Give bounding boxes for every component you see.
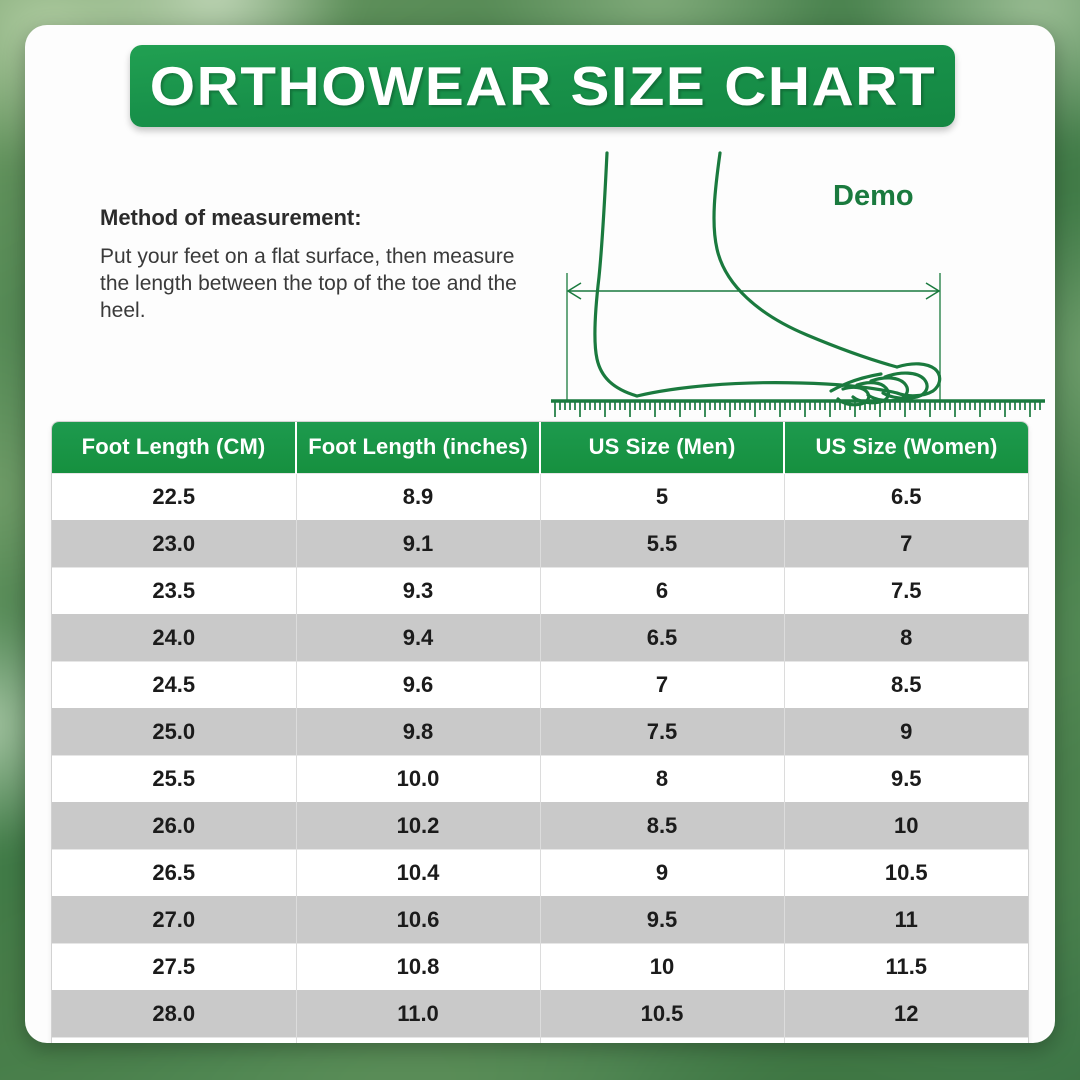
table-cell: 8.5 bbox=[784, 662, 1028, 709]
table-row: 27.510.81011.5 bbox=[52, 944, 1028, 991]
column-header-foot-length-inches: Foot Length (inches) bbox=[296, 422, 540, 474]
table-cell: 10.2 bbox=[296, 803, 540, 850]
table-cell: 10.6 bbox=[296, 897, 540, 944]
table-cell: 10.8 bbox=[296, 944, 540, 991]
table-cell: 10 bbox=[784, 803, 1028, 850]
table-cell: 10.0 bbox=[296, 756, 540, 803]
table-cell: 12.5 bbox=[784, 1038, 1028, 1044]
table-cell: 5 bbox=[540, 474, 784, 521]
table-row: 25.09.87.59 bbox=[52, 709, 1028, 756]
table-row: 25.510.089.5 bbox=[52, 756, 1028, 803]
table-cell: 24.5 bbox=[52, 662, 296, 709]
column-header-us-size-women: US Size (Women) bbox=[784, 422, 1028, 474]
table-cell: 11.5 bbox=[784, 944, 1028, 991]
title-banner: ORTHOWEAR SIZE CHART bbox=[130, 45, 955, 127]
table-cell: 25.5 bbox=[52, 756, 296, 803]
table-cell: 26.5 bbox=[52, 850, 296, 897]
table-cell: 7 bbox=[540, 662, 784, 709]
table-cell: 9.5 bbox=[784, 756, 1028, 803]
table-row: 23.09.15.57 bbox=[52, 521, 1028, 568]
table-cell: 9.6 bbox=[296, 662, 540, 709]
table-cell: 11 bbox=[784, 897, 1028, 944]
size-chart-table: Foot Length (CM) Foot Length (inches) US… bbox=[52, 422, 1028, 1043]
table-cell: 6 bbox=[540, 568, 784, 615]
table-row: 24.59.678.5 bbox=[52, 662, 1028, 709]
table-cell: 9.8 bbox=[296, 709, 540, 756]
table-row: 26.510.4910.5 bbox=[52, 850, 1028, 897]
table-cell: 5.5 bbox=[540, 521, 784, 568]
method-body: Put your feet on a flat surface, then me… bbox=[100, 244, 520, 325]
table-row: 23.59.367.5 bbox=[52, 568, 1028, 615]
table-row: 28.011.010.512 bbox=[52, 991, 1028, 1038]
table-cell: 9.3 bbox=[296, 568, 540, 615]
table-cell: 10.4 bbox=[296, 850, 540, 897]
size-chart-card: ORTHOWEAR SIZE CHART Method of measureme… bbox=[25, 25, 1055, 1043]
table-cell: 12 bbox=[784, 991, 1028, 1038]
table-cell: 24.0 bbox=[52, 615, 296, 662]
table-cell: 6.5 bbox=[784, 474, 1028, 521]
table-cell: 8.9 bbox=[296, 474, 540, 521]
table-cell: 25.0 bbox=[52, 709, 296, 756]
table-cell: 27.0 bbox=[52, 897, 296, 944]
table-row: 26.010.28.510 bbox=[52, 803, 1028, 850]
table-row: 22.58.956.5 bbox=[52, 474, 1028, 521]
table-cell: 9 bbox=[784, 709, 1028, 756]
table-cell: 7.5 bbox=[540, 709, 784, 756]
table-cell: 23.5 bbox=[52, 568, 296, 615]
table-cell: 7 bbox=[784, 521, 1028, 568]
table-cell: 7.5 bbox=[784, 568, 1028, 615]
table-cell: 23.0 bbox=[52, 521, 296, 568]
table-cell: 11.2 bbox=[296, 1038, 540, 1044]
page-title: ORTHOWEAR SIZE CHART bbox=[149, 54, 935, 118]
table-cell: 27.5 bbox=[52, 944, 296, 991]
table-cell: 9.5 bbox=[540, 897, 784, 944]
table-cell: 8 bbox=[784, 615, 1028, 662]
table-cell: 8.5 bbox=[540, 803, 784, 850]
foot-outline-icon bbox=[545, 145, 1055, 420]
column-header-foot-length-cm: Foot Length (CM) bbox=[52, 422, 296, 474]
table-cell: 28.5 bbox=[52, 1038, 296, 1044]
table-header-row: Foot Length (CM) Foot Length (inches) US… bbox=[52, 422, 1028, 474]
ruler-icon bbox=[551, 401, 1045, 417]
table-cell: 28.0 bbox=[52, 991, 296, 1038]
column-header-us-size-men: US Size (Men) bbox=[540, 422, 784, 474]
table-cell: 9.4 bbox=[296, 615, 540, 662]
table-cell: 9.1 bbox=[296, 521, 540, 568]
table-cell: 8 bbox=[540, 756, 784, 803]
table-cell: 26.0 bbox=[52, 803, 296, 850]
table-cell: 11.0 bbox=[296, 991, 540, 1038]
table-row: 24.09.46.58 bbox=[52, 615, 1028, 662]
table-cell: 6.5 bbox=[540, 615, 784, 662]
table-cell: 22.5 bbox=[52, 474, 296, 521]
table-cell: 11 bbox=[540, 1038, 784, 1044]
table-cell: 9 bbox=[540, 850, 784, 897]
table-row: 27.010.69.511 bbox=[52, 897, 1028, 944]
table-cell: 10.5 bbox=[784, 850, 1028, 897]
table-cell: 10 bbox=[540, 944, 784, 991]
table-row: 28.511.21112.5 bbox=[52, 1038, 1028, 1044]
table-cell: 10.5 bbox=[540, 991, 784, 1038]
method-heading: Method of measurement: bbox=[100, 205, 520, 231]
method-of-measurement-block: Method of measurement: Put your feet on … bbox=[100, 205, 520, 325]
